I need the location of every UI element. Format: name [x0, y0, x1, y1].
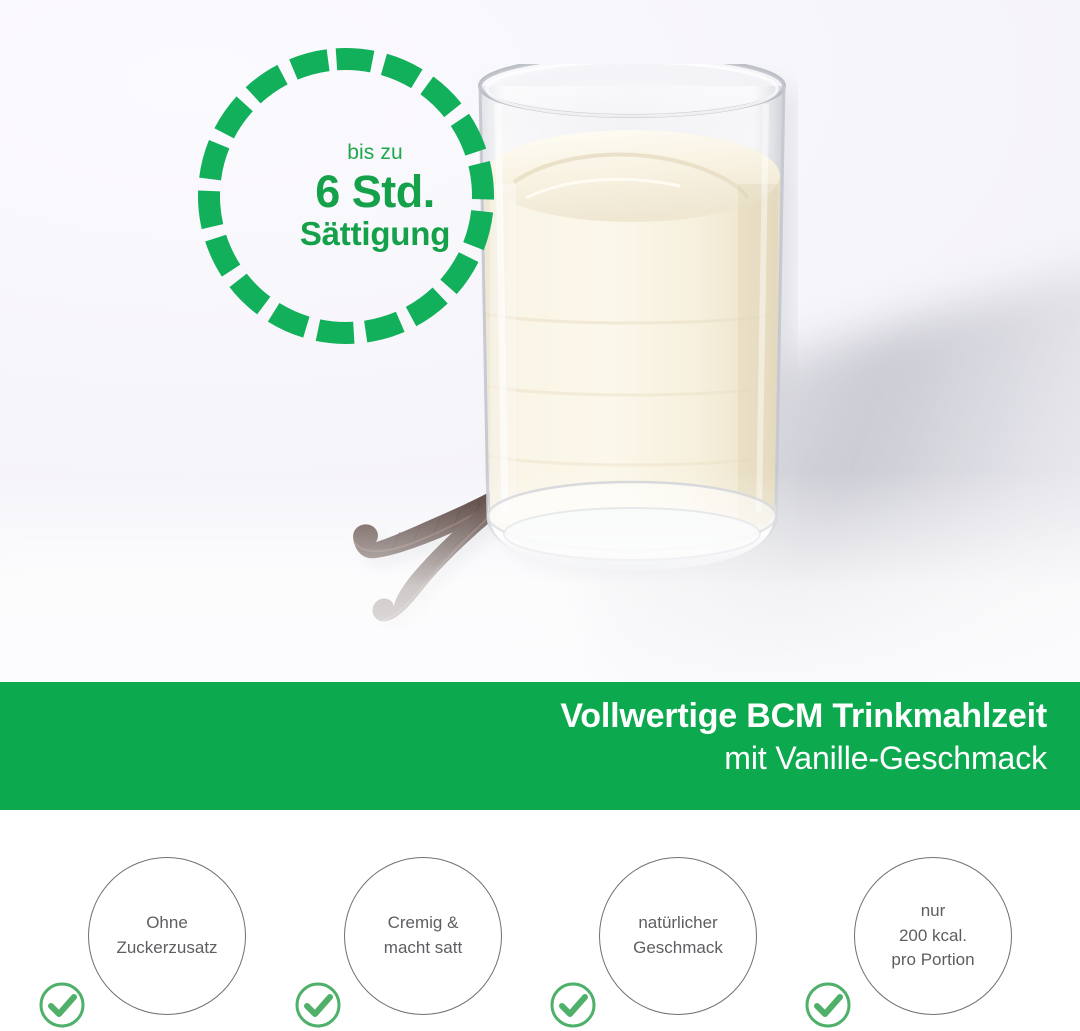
satiety-badge: bis zu 6 Std. Sättigung	[198, 48, 494, 344]
product-banner: Vollwertige BCM Trinkmahlzeit mit Vanill…	[0, 682, 1080, 810]
hero-product-photo: bis zu 6 Std. Sättigung	[0, 0, 1080, 682]
feature-item-3: natürlicher Geschmack	[599, 857, 757, 1015]
badge-value: 6 Std.	[315, 169, 435, 214]
feature-label-4: nur 200 kcal. pro Portion	[854, 857, 1012, 1015]
banner-subtitle: mit Vanille-Geschmack	[0, 738, 1047, 780]
milk-glass-image	[466, 64, 798, 580]
feature-line: Cremig &	[388, 913, 459, 932]
feature-label-1: Ohne Zuckerzusatz	[88, 857, 246, 1015]
badge-text-block: bis zu 6 Std. Sättigung	[198, 48, 494, 344]
feature-label-3: natürlicher Geschmack	[599, 857, 757, 1015]
badge-label: Sättigung	[300, 217, 450, 250]
check-circle-icon	[804, 981, 852, 1029]
check-circle-icon	[549, 981, 597, 1029]
feature-item-4: nur 200 kcal. pro Portion	[854, 857, 1012, 1015]
check-circle-icon	[294, 981, 342, 1029]
feature-label-2: Cremig & macht satt	[344, 857, 502, 1015]
feature-item-1: Ohne Zuckerzusatz	[88, 857, 246, 1015]
feature-line: Geschmack	[633, 938, 723, 957]
feature-line: pro Portion	[891, 950, 974, 969]
feature-line: nur	[921, 901, 946, 920]
check-circle-icon	[38, 981, 86, 1029]
feature-line: Ohne	[146, 913, 188, 932]
feature-highlights: Ohne Zuckerzusatz Cremig & macht satt	[0, 810, 1080, 1031]
feature-line: natürlicher	[638, 913, 717, 932]
banner-title: Vollwertige BCM Trinkmahlzeit	[0, 696, 1047, 736]
feature-item-2: Cremig & macht satt	[344, 857, 502, 1015]
feature-line: Zuckerzusatz	[116, 938, 217, 957]
product-marketing-banner: bis zu 6 Std. Sättigung Vollwertige BCM …	[0, 0, 1080, 1031]
feature-line: macht satt	[384, 938, 462, 957]
feature-line: 200 kcal.	[899, 926, 967, 945]
badge-kicker: bis zu	[347, 142, 402, 163]
